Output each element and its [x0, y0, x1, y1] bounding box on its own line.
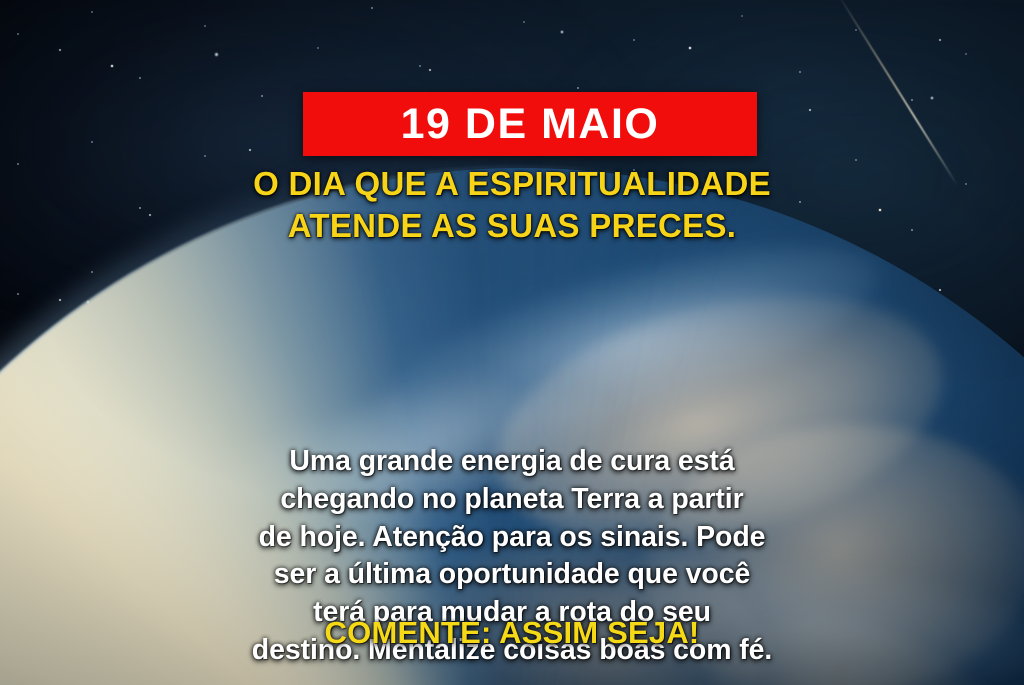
body-line-4: ser a última oportunidade que você	[0, 556, 1024, 594]
call-to-action-label: COMENTE: ASSIM SEJA!	[325, 615, 700, 650]
body-line-1: Uma grande energia de cura está	[0, 443, 1024, 481]
call-to-action: COMENTE: ASSIM SEJA!	[0, 616, 1024, 650]
headline: O DIA QUE A ESPIRITUALIDADE ATENDE AS SU…	[0, 163, 1024, 246]
poster-canvas: 19 DE MAIO O DIA QUE A ESPIRITUALIDADE A…	[0, 0, 1024, 685]
headline-line-1: O DIA QUE A ESPIRITUALIDADE	[0, 163, 1024, 205]
headline-line-2: ATENDE AS SUAS PRECES.	[0, 205, 1024, 247]
body-line-2: chegando no planeta Terra a partir	[0, 481, 1024, 519]
date-banner: 19 DE MAIO	[303, 92, 757, 156]
date-banner-label: 19 DE MAIO	[401, 103, 660, 146]
poster-content: 19 DE MAIO O DIA QUE A ESPIRITUALIDADE A…	[0, 0, 1024, 685]
body-line-3: de hoje. Atenção para os sinais. Pode	[0, 519, 1024, 557]
